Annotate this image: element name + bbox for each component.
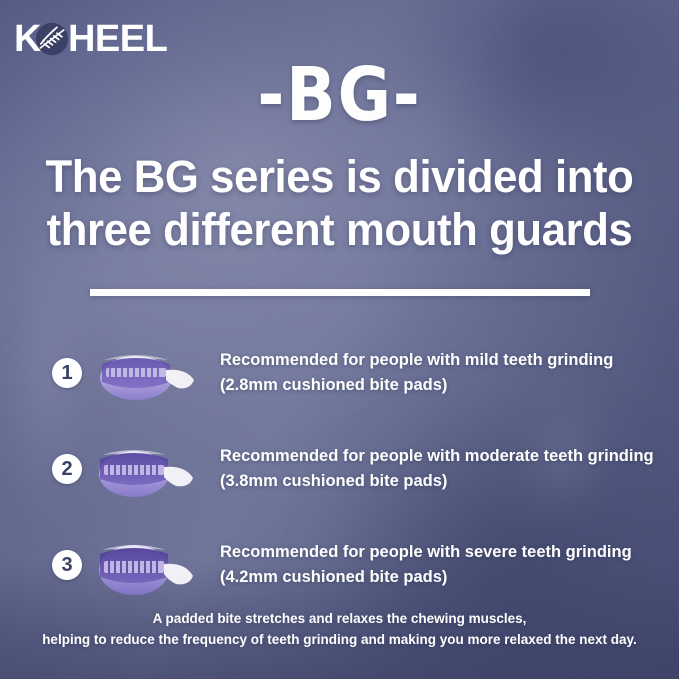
section-divider xyxy=(90,289,590,296)
mouth-guard-icon xyxy=(90,434,206,504)
list-item: 3 xyxy=(0,517,679,613)
mouth-guard-icon xyxy=(90,530,206,600)
item-number-badge: 1 xyxy=(52,358,82,388)
poster-canvas: K HEEL -BG- xyxy=(0,0,679,679)
headline-line-1: The BG series is divided into xyxy=(26,150,654,203)
mouth-guard-icon xyxy=(90,338,206,408)
brand-logo-text: K HEEL xyxy=(14,20,167,58)
item-number-badge: 2 xyxy=(52,454,82,484)
item-description-line-2: (2.8mm cushioned bite pads) xyxy=(220,373,679,398)
brand-logo: K HEEL xyxy=(14,17,167,61)
item-description-line-2: (4.2mm cushioned bite pads) xyxy=(220,565,679,590)
item-description-line-2: (3.8mm cushioned bite pads) xyxy=(220,469,679,494)
series-title: -BG- xyxy=(41,58,639,132)
item-description-line-1: Recommended for people with mild teeth g… xyxy=(220,348,679,373)
wheat-leaf-circle-icon xyxy=(34,21,70,57)
footer-line-1: A padded bite stretches and relaxes the … xyxy=(20,608,659,629)
footer-line-2: helping to reduce the frequency of teeth… xyxy=(20,629,659,650)
item-description: Recommended for people with severe teeth… xyxy=(220,540,679,590)
list-item: 2 xyxy=(0,421,679,517)
brand-name-rest: HEEL xyxy=(68,20,167,58)
footer-caption: A padded bite stretches and relaxes the … xyxy=(20,608,659,650)
item-description-line-1: Recommended for people with moderate tee… xyxy=(220,444,679,469)
product-variant-list: 1 xyxy=(0,325,679,613)
item-description-line-1: Recommended for people with severe teeth… xyxy=(220,540,679,565)
page-headline: The BG series is divided into three diff… xyxy=(26,150,654,256)
item-description: Recommended for people with moderate tee… xyxy=(220,444,679,494)
item-number-badge: 3 xyxy=(52,550,82,580)
list-item: 1 xyxy=(0,325,679,421)
headline-line-2: three different mouth guards xyxy=(26,203,654,256)
item-description: Recommended for people with mild teeth g… xyxy=(220,348,679,398)
